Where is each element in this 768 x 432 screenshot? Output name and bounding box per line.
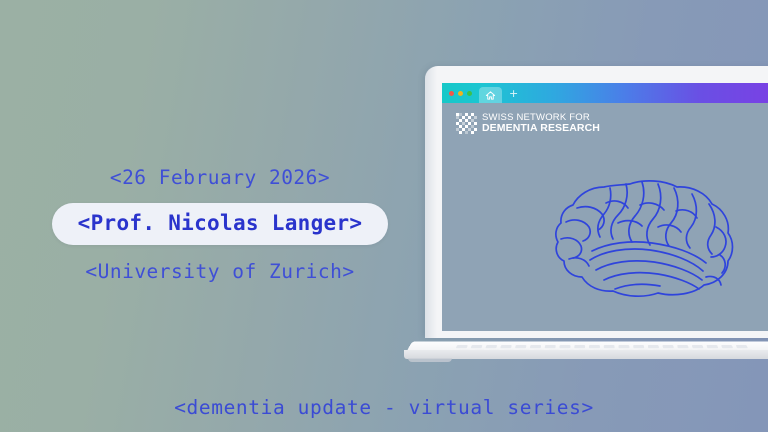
lid-shading: [425, 66, 437, 338]
speaker-name: <Prof. Nicolas Langer>: [78, 213, 363, 234]
base-front-edge: [404, 350, 768, 359]
laptop-screen: +: [442, 83, 768, 331]
webinar-announcement-slide: <26 February 2026> <Prof. Nicolas Langer…: [0, 0, 768, 432]
qr-pixel-logo-mark: [456, 113, 477, 134]
window-controls[interactable]: [449, 91, 472, 96]
close-icon[interactable]: [449, 91, 454, 96]
browser-chrome-bar: +: [442, 83, 768, 103]
home-icon: [485, 90, 496, 101]
event-details-block: <26 February 2026> <Prof. Nicolas Langer…: [0, 168, 440, 281]
minimize-icon[interactable]: [458, 91, 463, 96]
maximize-icon[interactable]: [467, 91, 472, 96]
browser-tab-active[interactable]: [479, 87, 502, 103]
brand-logo: SWISS NETWORK FOR DEMENTIA RESEARCH: [456, 113, 600, 134]
laptop-base: [398, 336, 768, 364]
base-foot: [408, 358, 452, 362]
speaker-affiliation: <University of Zurich>: [0, 262, 440, 282]
brand-wordmark: SWISS NETWORK FOR DEMENTIA RESEARCH: [482, 113, 600, 134]
event-date: <26 February 2026>: [0, 168, 440, 188]
brain-line-art-illustration: [546, 167, 746, 307]
series-caption: <dementia update - virtual series>: [0, 396, 768, 419]
speaker-badge: <Prof. Nicolas Langer>: [52, 203, 389, 245]
laptop-mockup: +: [398, 66, 768, 366]
brand-line-2: DEMENTIA RESEARCH: [482, 123, 600, 134]
new-tab-button[interactable]: +: [509, 88, 518, 99]
